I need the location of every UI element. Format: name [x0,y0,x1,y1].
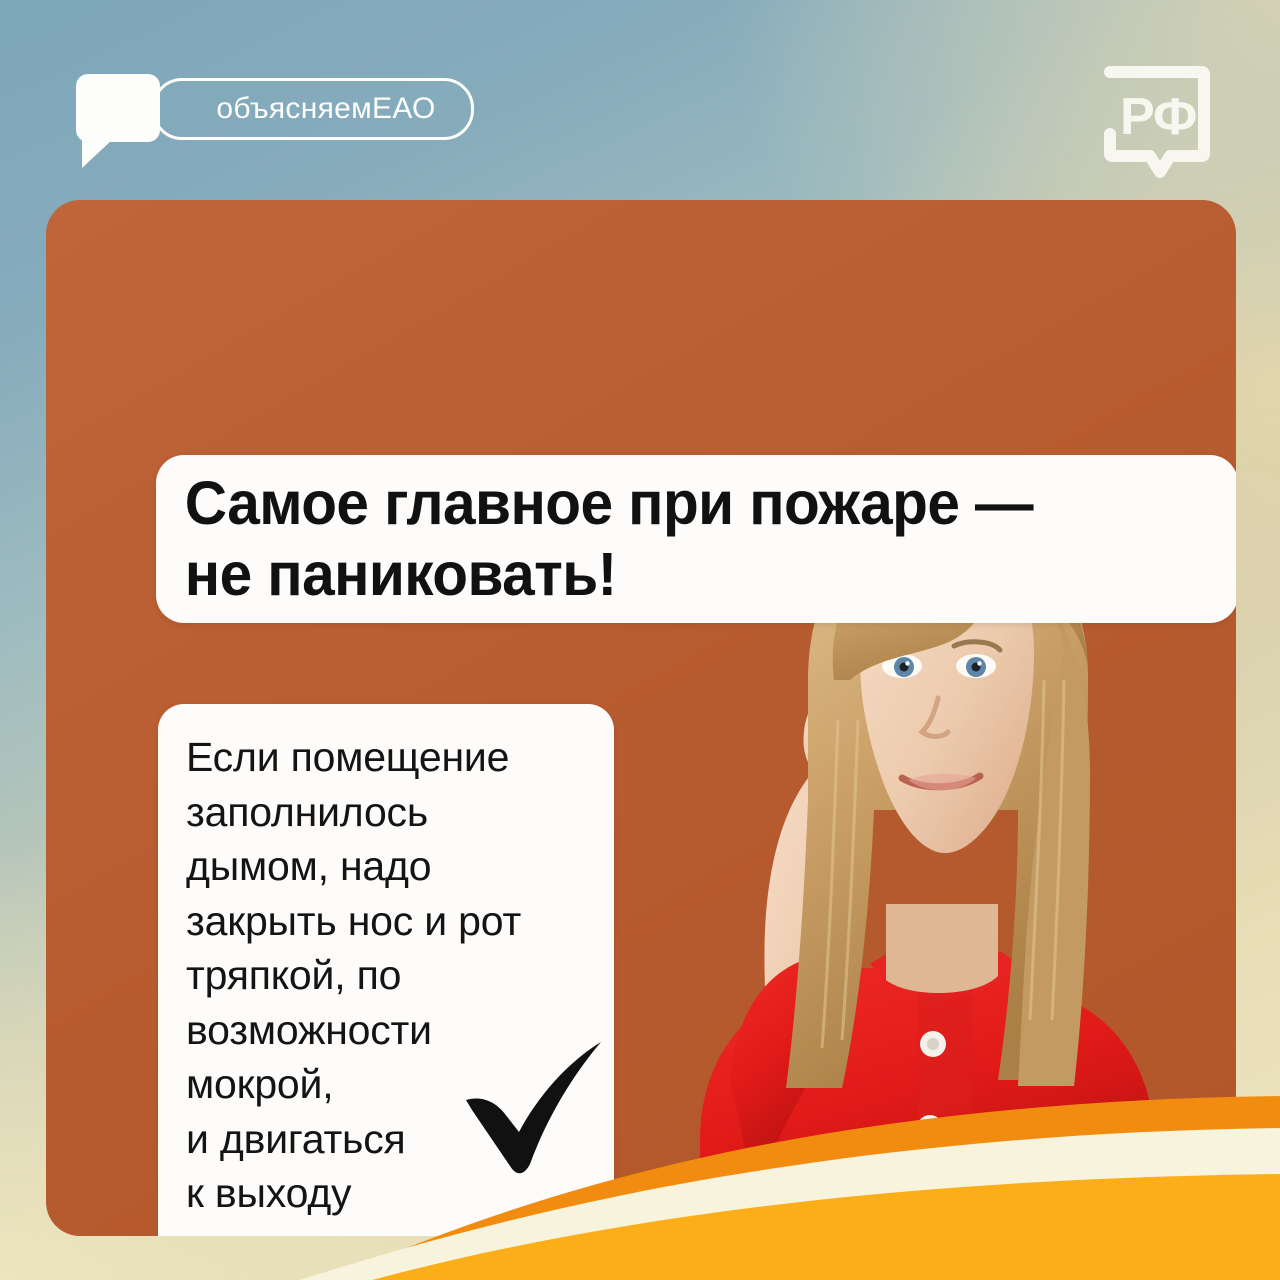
header-bar: объясняемЕАО РФ [0,0,1280,200]
rf-logo-icon: РФ [1094,58,1218,186]
title-card: Самое главное при пожаре — не паниковать… [156,455,1236,623]
page-title: Самое главное при пожаре — не паниковать… [156,468,1033,610]
bottom-wave-decoration [0,980,1280,1280]
speech-bubble-icon [76,74,160,142]
brand-pill: объясняемЕАО [152,78,474,140]
svg-text:РФ: РФ [1120,88,1196,146]
brand-label: объясняемЕАО [190,92,435,126]
